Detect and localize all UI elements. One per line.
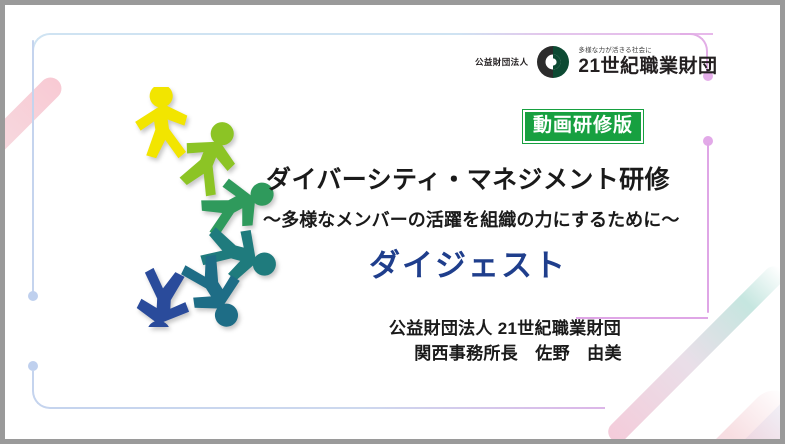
- presenter-organization: 公益財団法人 21世紀職業財団: [335, 317, 675, 342]
- slide-canvas: 公益財団法人 多様な力が活きる社会に 21世紀職業財団 動画研修版 ダイバーシテ…: [5, 5, 780, 439]
- logo-tagline: 多様な力が活きる社会に: [578, 48, 717, 55]
- digest-title: ダイジェスト: [263, 247, 673, 286]
- stripe-thin-pink: [5, 73, 66, 237]
- frame-dot-bottom-left: [28, 361, 38, 371]
- stripe-violet: [5, 5, 188, 34]
- logo-prefix-text: 公益財団法人: [475, 56, 528, 68]
- frame-line-bottom: [65, 407, 605, 409]
- title-block: ダイバーシティ・マネジメント研修 ～多様なメンバーの活躍を組織の力にするために～…: [263, 165, 673, 285]
- presenter-name: 関西事務所長 佐野 由美: [335, 342, 675, 367]
- main-title: ダイバーシティ・マネジメント研修: [263, 165, 673, 196]
- sub-title: ～多様なメンバーの活躍を組織の力にするために～: [263, 209, 673, 232]
- frame-corner-bottom-left: [32, 371, 68, 409]
- figure-yellow: [130, 87, 193, 163]
- stripe-pink: [5, 5, 144, 160]
- foundation-logo-mark-icon: [536, 45, 570, 79]
- figure-dark-blue: [135, 267, 191, 327]
- presenter-block: 公益財団法人 21世紀職業財団 関西事務所長 佐野 由美: [335, 317, 675, 366]
- logo-text-group: 多様な力が活きる社会に 21世紀職業財団: [578, 48, 717, 76]
- people-chain-illustration: [130, 87, 280, 327]
- presentation-slide: 公益財団法人 多様な力が活きる社会に 21世紀職業財団 動画研修版 ダイバーシテ…: [0, 0, 785, 444]
- foundation-logo: 公益財団法人 多様な力が活きる社会に 21世紀職業財団: [475, 45, 718, 79]
- logo-name: 21世紀職業財団: [578, 57, 717, 76]
- stripe-blue: [5, 5, 31, 77]
- frame-dot-left: [28, 291, 38, 301]
- video-training-badge: 動画研修版: [523, 110, 643, 143]
- frame-dot-right-upper: [703, 136, 713, 146]
